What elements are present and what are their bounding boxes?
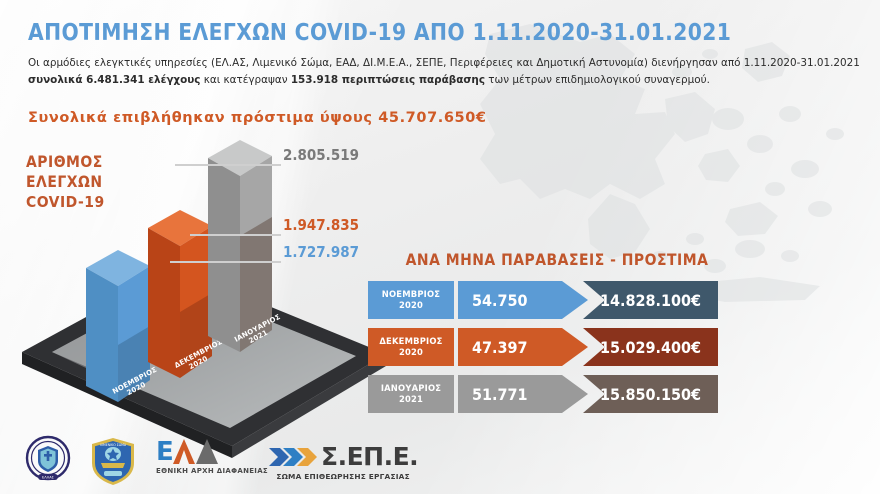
ead-logo: Ε ΕΘΝΙΚΗ ΑΡΧΗ ΔΙΑΦΑΝΕΙΑΣ: [156, 438, 268, 475]
paragraph-text-3: των μέτρων επιδημιολογικού συναγερμού.: [485, 74, 710, 86]
svg-text:ΛΙΜΕΝΙΚΟ ΣΩΜΑ: ΛΙΜΕΝΙΚΟ ΣΩΜΑ: [100, 443, 127, 447]
table-row: ΙΑΝΟΥΑΡΙΟΣ 2021 51.771 15.850.150€: [368, 375, 718, 413]
value-label-january: 2.805.519: [283, 146, 359, 164]
intro-paragraph: Οι αρμόδιες ελεγκτικές υπηρεσίες (ΕΛ.ΑΣ,…: [28, 55, 864, 89]
row-violations-january: 51.771: [458, 375, 588, 413]
row-month-december: ΔΕΚΕΜΒΡΙΟΣ 2020: [368, 328, 454, 366]
leader-line-december: [190, 234, 281, 236]
svg-text:ΕΛΛΑΣ: ΕΛΛΑΣ: [42, 476, 55, 480]
row-fine-january: 15.850.150€: [583, 375, 718, 413]
coast-guard-logo: ΛΙΜΕΝΙΚΟ ΣΩΜΑ: [88, 435, 138, 491]
month-line-2: 2021: [399, 394, 423, 405]
page-title: ΑΠΟΤΙΜΗΣΗ ΕΛΕΓΧΩΝ COVID-19 ΑΠΟ 1.11.2020…: [28, 18, 731, 46]
month-line-1: ΙΑΝΟΥΑΡΙΟΣ: [381, 383, 441, 394]
row-violations-december: 47.397: [458, 328, 588, 366]
leader-line-january: [175, 164, 281, 166]
row-violations-november: 54.750: [458, 281, 588, 319]
ead-letter-a1: [172, 438, 196, 465]
tablet-bar-chart: ΝΟΕΜΒΡΙΟΣ 2020 ΔΕΚΕΜΒΡΙΟΣ 2020: [8, 140, 398, 470]
value-label-november: 1.727.987: [283, 243, 359, 261]
paragraph-text-1: Οι αρμόδιες ελεγκτικές υπηρεσίες (ΕΛ.ΑΣ,…: [28, 57, 860, 69]
ead-letter-a2: [195, 438, 219, 465]
ead-logo-subtitle: ΕΘΝΙΚΗ ΑΡΧΗ ΔΙΑΦΑΝΕΙΑΣ: [156, 467, 268, 475]
table-title: ΑΝΑ ΜΗΝΑ ΠΑΡΑΒΑΣΕΙΣ - ΠΡΟΣΤΙΜΑ: [392, 251, 722, 269]
row-fine-december: 15.029.400€: [583, 328, 718, 366]
leader-line-november: [170, 261, 281, 263]
month-line-2: 2020: [399, 347, 423, 358]
greece-map-watermark: [460, 0, 880, 324]
hellenic-police-logo: ΕΛΛΑΣ: [22, 434, 74, 490]
infographic-canvas: ΑΠΟΤΙΜΗΣΗ ΕΛΕΓΧΩΝ COVID-19 ΑΠΟ 1.11.2020…: [0, 0, 880, 494]
bar-january: ΙΑΝΟΥΑΡΙΟΣ 2021: [208, 140, 286, 352]
paragraph-bold-violations: 153.918 περιπτώσεις παράβασης: [291, 74, 485, 86]
ead-letter-e: Ε: [156, 439, 173, 465]
value-label-december: 1.947.835: [283, 216, 359, 234]
logo-strip: ΕΛΛΑΣ ΛΙΜΕΝΙΚΟ ΣΩΜΑ Ε: [0, 432, 880, 494]
row-month-november: ΝΟΕΜΒΡΙΟΣ 2020: [368, 281, 454, 319]
paragraph-text-2: και κατέγραψαν: [200, 74, 290, 86]
sepe-wordmark: Σ.ΕΠ.Ε.: [321, 442, 418, 471]
month-line-1: ΝΟΕΜΒΡΙΟΣ: [382, 289, 440, 300]
sepe-logo-subtitle: ΣΩΜΑ ΕΠΙΘΕΩΡΗΣΗΣ ΕΡΓΑΣΙΑΣ: [268, 472, 418, 481]
monthly-violations-table: ΝΟΕΜΒΡΙΟΣ 2020 54.750 14.828.100€ ΔΕΚΕΜΒ…: [368, 281, 718, 422]
row-month-january: ΙΑΝΟΥΑΡΙΟΣ 2021: [368, 375, 454, 413]
sepe-chevrons-icon: [268, 445, 320, 469]
month-line-1: ΔΕΚΕΜΒΡΙΟΣ: [379, 336, 442, 347]
table-row: ΔΕΚΕΜΒΡΙΟΣ 2020 47.397 15.029.400€: [368, 328, 718, 366]
total-fines-line: Συνολικά επιβλήθηκαν πρόστιμα ύψους 45.7…: [28, 110, 487, 126]
sepe-logo: Σ.ΕΠ.Ε. ΣΩΜΑ ΕΠΙΘΕΩΡΗΣΗΣ ΕΡΓΑΣΙΑΣ: [268, 442, 418, 481]
month-line-2: 2020: [399, 300, 423, 311]
table-row: ΝΟΕΜΒΡΙΟΣ 2020 54.750 14.828.100€: [368, 281, 718, 319]
paragraph-bold-checks: συνολικά 6.481.341 ελέγχους: [28, 74, 200, 86]
row-fine-november: 14.828.100€: [583, 281, 718, 319]
